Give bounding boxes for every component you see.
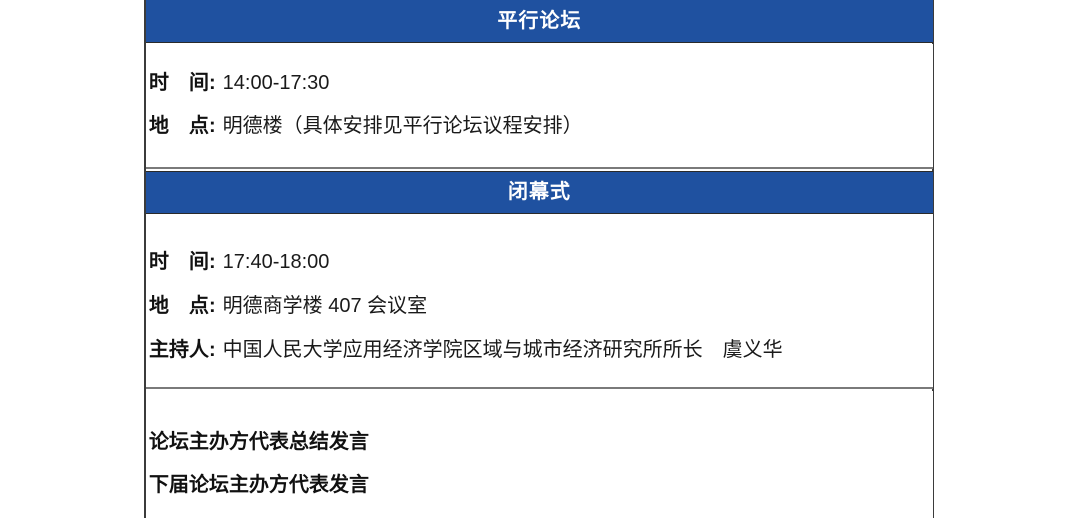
section-body-closing-agenda: 论坛主办方代表总结发言 下届论坛主办方代表发言: [146, 391, 933, 518]
detail-row-time: 时 间: 17:40-18:00: [146, 245, 933, 274]
agenda-table: 平行论坛 时 间: 14:00-17:30 地 点: 明德楼（具体安排见平行论坛…: [144, 0, 934, 518]
detail-row-time: 时 间: 14:00-17:30: [146, 66, 933, 95]
detail-value-location: 明德商学楼 407 会议室: [216, 289, 427, 318]
section-body-parallel-forum: 时 间: 14:00-17:30 地 点: 明德楼（具体安排见平行论坛议程安排）: [146, 44, 933, 169]
detail-label-location: 地 点:: [149, 289, 216, 318]
detail-label-location: 地 点:: [149, 109, 216, 138]
section-title-parallel-forum: 平行论坛: [146, 0, 933, 43]
detail-label-time: 时 间:: [149, 66, 216, 95]
agenda-item-next-host-speech: 下届论坛主办方代表发言: [146, 468, 933, 497]
detail-value-time: 14:00-17:30: [216, 72, 330, 95]
section-header-closing-ceremony: 闭幕式: [146, 171, 933, 214]
detail-row-host: 主持人: 中国人民大学应用经济学院区域与城市经济研究所所长 虞义华: [146, 333, 933, 362]
detail-value-location: 明德楼（具体安排见平行论坛议程安排）: [216, 109, 583, 138]
detail-row-location: 地 点: 明德楼（具体安排见平行论坛议程安排）: [146, 109, 933, 138]
detail-value-host: 中国人民大学应用经济学院区域与城市经济研究所所长 虞义华: [216, 333, 783, 362]
agenda-item-summary-speech: 论坛主办方代表总结发言: [146, 425, 933, 454]
detail-label-time: 时 间:: [149, 245, 216, 274]
section-header-parallel-forum: 平行论坛: [146, 0, 933, 43]
page-root: 平行论坛 时 间: 14:00-17:30 地 点: 明德楼（具体安排见平行论坛…: [0, 0, 1080, 518]
detail-label-host: 主持人:: [149, 333, 216, 362]
detail-value-time: 17:40-18:00: [216, 251, 330, 274]
section-body-closing-ceremony: 时 间: 17:40-18:00 地 点: 明德商学楼 407 会议室 主持人:…: [146, 214, 933, 389]
section-title-closing-ceremony: 闭幕式: [146, 172, 933, 213]
detail-row-location: 地 点: 明德商学楼 407 会议室: [146, 289, 933, 318]
